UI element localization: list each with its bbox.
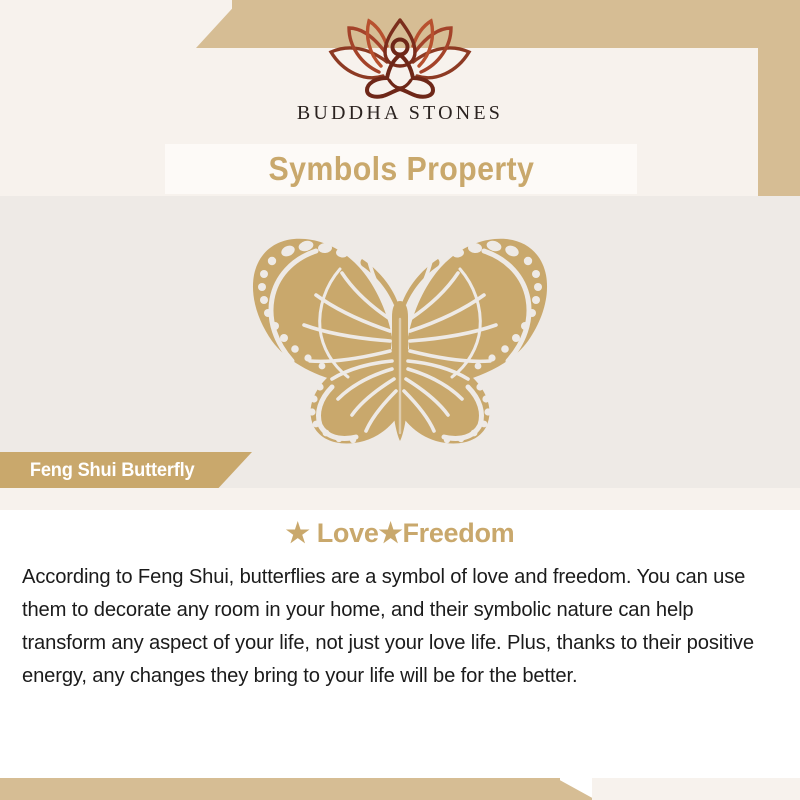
lotus-meditation-figure-icon xyxy=(325,16,475,100)
subheading: ★ Love★Freedom xyxy=(0,518,800,549)
description-paragraph: According to Feng Shui, butterflies are … xyxy=(22,560,773,692)
illustration-panel xyxy=(0,196,800,488)
page-title: Symbols Property xyxy=(268,150,534,188)
brand-header: BUDDHA STONES xyxy=(0,0,800,140)
brand-name: BUDDHA STONES xyxy=(297,102,503,125)
category-banner-label: Feng Shui Butterfly xyxy=(4,460,194,482)
category-banner: Feng Shui Butterfly xyxy=(0,452,252,490)
description-section: ★ Love★Freedom According to Feng Shui, b… xyxy=(0,510,800,778)
tan-frame-bottom xyxy=(0,778,560,800)
symbols-property-infographic: BUDDHA STONES Symbols Property xyxy=(0,0,800,800)
tan-frame-bottom-bevel xyxy=(556,778,596,800)
butterfly-icon xyxy=(220,219,580,469)
bottom-cream-corner xyxy=(592,778,800,800)
bottom-white-filler xyxy=(40,768,800,778)
cream-divider-strip xyxy=(0,488,800,510)
page-title-box: Symbols Property xyxy=(165,144,637,194)
